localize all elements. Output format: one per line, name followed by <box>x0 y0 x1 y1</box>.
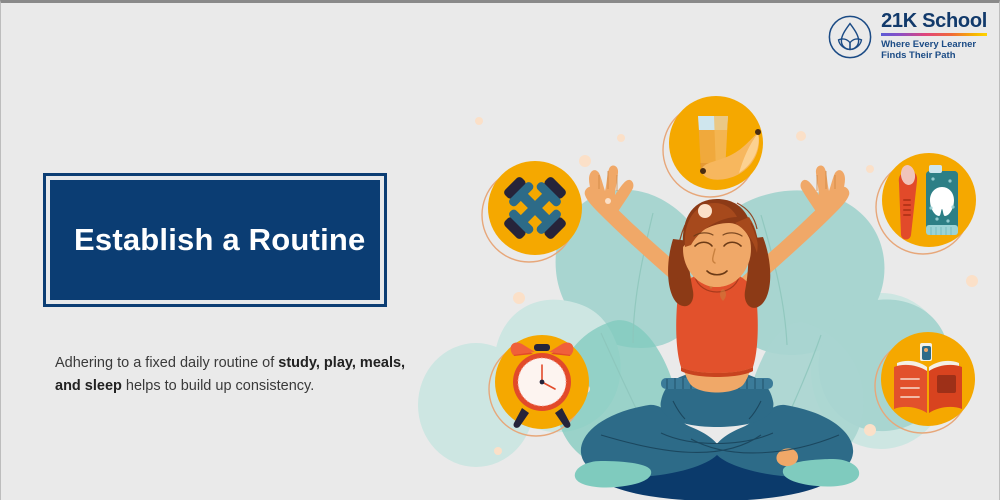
icon-badge-juice-banana[interactable] <box>663 96 763 197</box>
lotus-circle-logo-icon <box>827 14 873 60</box>
logo-gradient-rule <box>881 33 987 36</box>
logo-tagline-line-1: Where Every Learner <box>881 39 987 51</box>
body-text-after: helps to build up consistency. <box>122 378 314 394</box>
icon-badge-toothbrush[interactable] <box>876 153 976 254</box>
logo-brand-name: 21K School <box>881 11 987 31</box>
headline-box: Establish a Routine <box>43 173 387 307</box>
logo-tagline: Where Every Learner Finds Their Path <box>881 39 987 63</box>
body-paragraph: Adhering to a fixed daily routine of stu… <box>55 352 415 399</box>
toothbrush-toothpaste-icon <box>899 164 958 239</box>
logo-tagline-line-2: Finds Their Path <box>881 50 987 62</box>
logo-text-block: 21K School Where Every Learner Finds The… <box>881 11 987 62</box>
brand-logo[interactable]: 21K School Where Every Learner Finds The… <box>827 11 987 62</box>
infographic-canvas: Establish a Routine Adhering to a fixed … <box>0 0 1000 500</box>
body-text-before: Adhering to a fixed daily routine of <box>55 355 278 371</box>
page-title: Establish a Routine <box>46 222 365 258</box>
